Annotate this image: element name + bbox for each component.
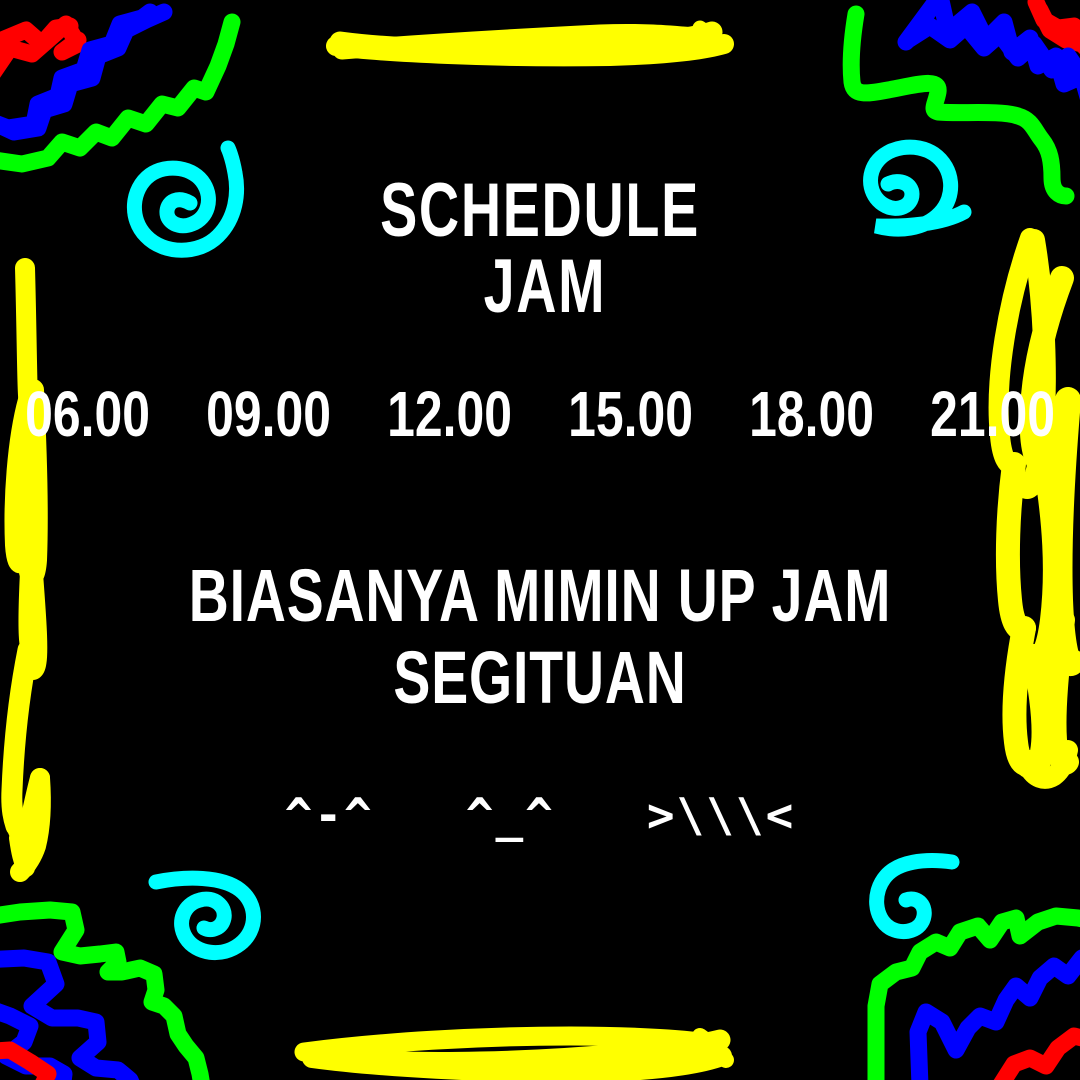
schedule-time: 15.00 — [568, 383, 693, 447]
kaomoji-shy: >\\\< — [647, 792, 795, 838]
poster-canvas: SCHEDULE JAM 06.00 09.00 12.00 15.00 18.… — [0, 0, 1080, 1080]
caption-line2: SEGITUAN — [86, 640, 993, 714]
schedule-time: 18.00 — [749, 383, 874, 447]
schedule-time: 21.00 — [930, 383, 1055, 447]
schedule-time: 06.00 — [25, 383, 150, 447]
kaomoji-row: ^-^ ^_^ >\\\< — [0, 792, 1080, 838]
schedule-time: 09.00 — [206, 383, 331, 447]
content-layer: SCHEDULE JAM 06.00 09.00 12.00 15.00 18.… — [0, 0, 1080, 1080]
page-title-line2: JAM — [102, 248, 988, 324]
kaomoji-smile: ^_^ — [466, 792, 555, 838]
page-title-line1: SCHEDULE — [97, 172, 983, 248]
schedule-times-row: 06.00 09.00 12.00 15.00 18.00 21.00 — [0, 386, 1080, 444]
schedule-time: 12.00 — [387, 383, 512, 447]
caption-line1: BIASANYA MIMIN UP JAM — [86, 558, 993, 632]
kaomoji-happy: ^-^ — [285, 792, 374, 838]
